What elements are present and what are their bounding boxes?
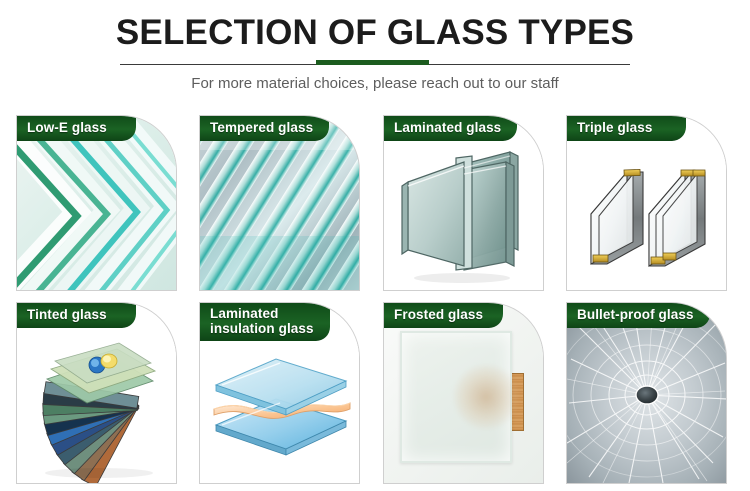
card-image-triple-glass [567,116,726,290]
card-frosted-glass[interactable]: Frosted glass [383,302,544,484]
card-image-tempered-glass [200,116,359,290]
card-image-frosted-glass [384,303,543,483]
page-header: SELECTION OF GLASS TYPES For more materi… [0,0,750,108]
tinted-sheet-fan-icon [17,303,176,483]
card-label-low-e-glass: Low-E glass [16,115,136,141]
card-label-frosted-glass: Frosted glass [383,302,503,328]
frosted-glass-illustration [384,303,543,483]
card-bullet-proof-glass[interactable]: Bullet-proof glass [566,302,727,484]
card-triple-glass[interactable]: Triple glass [566,115,727,291]
divider-accent [316,60,429,65]
card-tinted-glass[interactable]: Tinted glass [16,302,177,484]
tempered-sheets-icon [200,116,359,290]
laminated-glass-illustration [384,116,543,290]
card-label-triple-glass: Triple glass [566,115,686,141]
card-laminated-insulation-glass[interactable]: Laminated insulation glass [199,302,360,484]
card-label-tinted-glass: Tinted glass [16,302,136,328]
tinted-glass-illustration [17,303,176,483]
card-tempered-glass[interactable]: Tempered glass [199,115,360,291]
frosted-diffusion-blur [454,365,518,429]
triple-glass-illustration [567,116,726,290]
card-image-laminated-glass [384,116,543,290]
insulated-glass-units-icon [567,116,726,290]
card-laminated-glass[interactable]: Laminated glass [383,115,544,291]
glass-type-grid: Low-E glass [0,110,750,491]
card-label-laminated-glass: Laminated glass [383,115,517,141]
page-subtitle: For more material choices, please reach … [0,74,750,94]
low-e-chevrons-icon [17,116,176,290]
laminated-panes-icon [384,116,543,290]
card-image-bullet-proof-glass [567,303,726,483]
card-label-laminated-insulation-glass: Laminated insulation glass [199,302,330,341]
card-image-tinted-glass [17,303,176,483]
bullet-proof-glass-illustration [567,303,726,483]
low-e-glass-illustration [17,116,176,290]
tempered-glass-illustration [200,116,359,290]
card-image-low-e-glass [17,116,176,290]
page-title: SELECTION OF GLASS TYPES [0,13,750,53]
title-divider [120,60,630,66]
glass-types-page: SELECTION OF GLASS TYPES For more materi… [0,0,750,491]
card-low-e-glass[interactable]: Low-E glass [16,115,177,291]
bullet-impact-cracks-icon [567,303,726,483]
card-label-bullet-proof-glass: Bullet-proof glass [566,302,710,328]
card-label-tempered-glass: Tempered glass [199,115,329,141]
